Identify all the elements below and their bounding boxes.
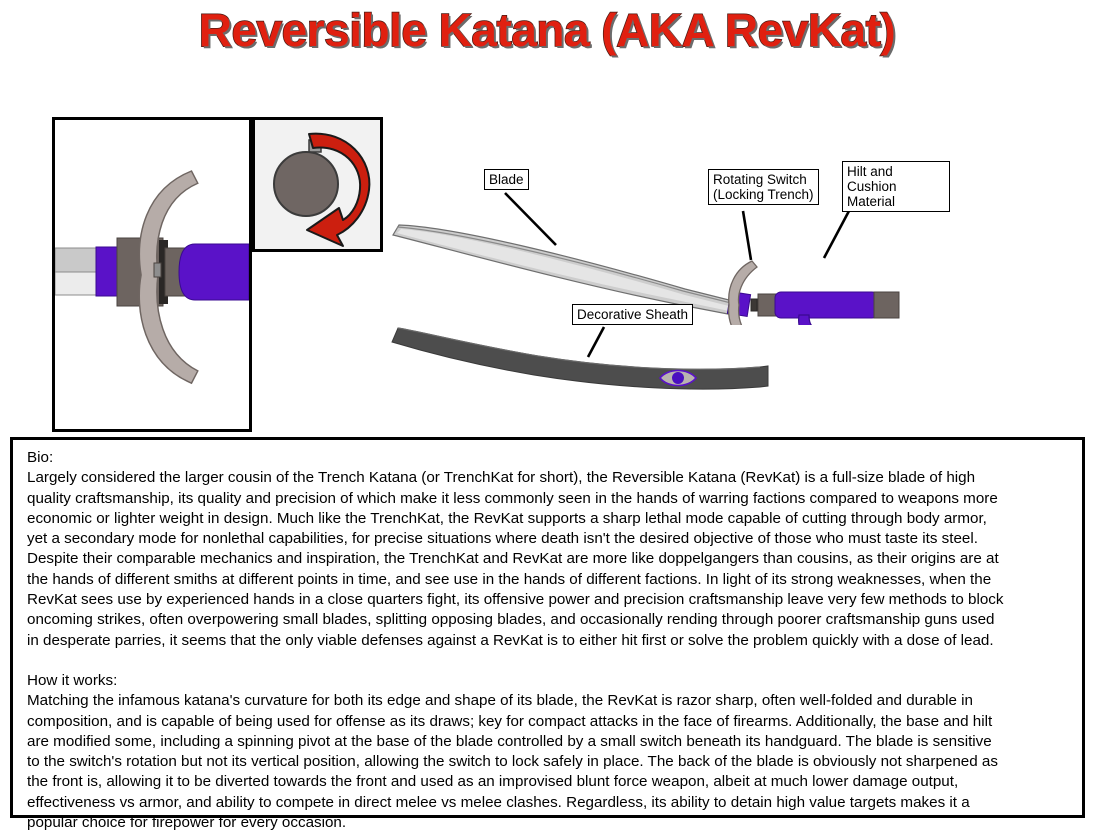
leader-lines bbox=[0, 95, 1094, 435]
description-textbox: Bio: Largely considered the larger cousi… bbox=[10, 437, 1085, 818]
bio-line: RevKat sees use by experienced hands in … bbox=[27, 590, 1070, 610]
leader-switch bbox=[743, 211, 751, 260]
bio-line: the hands of different smiths at differe… bbox=[27, 570, 1070, 590]
how-line: effectiveness vs armor, and ability to c… bbox=[27, 793, 1070, 813]
label-rotating-switch: Rotating Switch (Locking Trench) bbox=[708, 169, 819, 205]
bio-line: quality craftsmanship, its quality and p… bbox=[27, 489, 1070, 509]
infographic-page: Reversible Katana (AKA RevKat) bbox=[0, 0, 1094, 826]
bio-line: Largely considered the larger cousin of … bbox=[27, 468, 1070, 488]
bio-line: economic or lighter weight in design. Mu… bbox=[27, 509, 1070, 529]
how-line: are modified some, including a spinning … bbox=[27, 732, 1070, 752]
how-line: popular choice for firepower for every o… bbox=[27, 813, 1070, 833]
how-line: to the switch's rotation but not its ver… bbox=[27, 752, 1070, 772]
leader-sheath bbox=[588, 327, 604, 357]
label-decorative-sheath: Decorative Sheath bbox=[572, 304, 693, 325]
page-title: Reversible Katana (AKA RevKat) bbox=[0, 2, 1094, 58]
how-line: the front is, allowing it to be diverted… bbox=[27, 772, 1070, 792]
bio-line: Despite their comparable mechanics and i… bbox=[27, 549, 1070, 569]
how-line: composition, and is capable of being use… bbox=[27, 712, 1070, 732]
label-blade: Blade bbox=[484, 169, 529, 190]
bio-line: oncoming strikes, often overpowering sma… bbox=[27, 610, 1070, 630]
how-line: Matching the infamous katana's curvature… bbox=[27, 691, 1070, 711]
bio-heading: Bio: bbox=[27, 448, 1070, 468]
label-hilt-and-cushion: Hilt and Cushion Material bbox=[842, 161, 950, 212]
leader-blade bbox=[505, 193, 556, 245]
how-it-works-heading: How it works: bbox=[27, 671, 1070, 691]
figure-area: Blade Rotating Switch (Locking Trench) H… bbox=[0, 95, 1094, 435]
paragraph-gap bbox=[27, 651, 1070, 671]
bio-line: yet a secondary mode for nonlethal capab… bbox=[27, 529, 1070, 549]
bio-line: in desperate parries, it seems that the … bbox=[27, 631, 1070, 651]
